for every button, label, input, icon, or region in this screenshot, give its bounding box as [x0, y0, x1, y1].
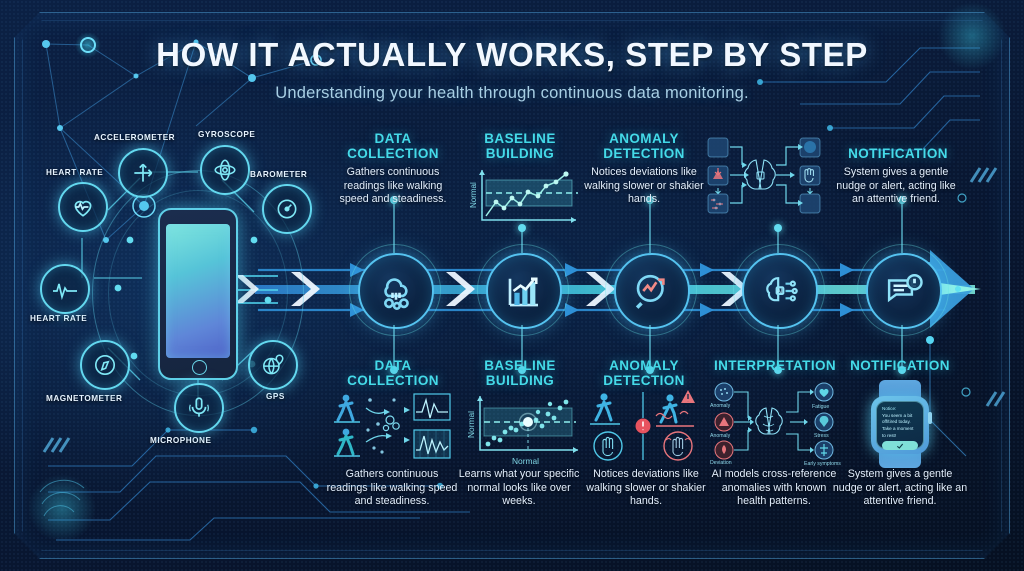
gps-globe-icon [248, 340, 298, 390]
page-title: HOW IT ACTUALLY WORKS, STEP BY STEP [0, 36, 1024, 74]
watch-confirm-button[interactable] [882, 441, 918, 450]
step-heading-top-anomaly-detection: ANOMALY DETECTION [588, 131, 700, 161]
interpretation-output-label-2: Stress [814, 433, 829, 439]
sensor-label-barometer: BAROMETER [250, 170, 307, 179]
step-heading-bottom-notification: NOTIFICATION [838, 358, 962, 373]
step-caption-baseline-building: Learns what your specific normal looks l… [456, 468, 582, 509]
svg-text:Normal: Normal [469, 182, 478, 208]
step-caption-notification: System gives a gentle nudge or alert, ac… [832, 468, 968, 509]
sensor-label-gyroscope: GYROSCOPE [198, 130, 255, 139]
ecg-wave-icon [40, 264, 90, 314]
step-icon-baseline-building[interactable] [486, 253, 562, 329]
step-heading-bottom-anomaly-detection: ANOMALY DETECTION [588, 358, 700, 388]
sensor-label-gps: GPS [266, 392, 285, 401]
sensor-label-accelerometer: ACCELEROMETER [94, 133, 175, 142]
compass-icon [80, 340, 130, 390]
step-blurb-top-data-collection: Gathers continuous readings like walking… [332, 166, 454, 207]
step-heading-top-notification: NOTIFICATION [836, 146, 960, 161]
step-heading-bottom-data-collection: DATA COLLECTION [334, 358, 452, 388]
step-caption-interpretation: AI models cross-reference anomalies with… [706, 468, 842, 509]
sensor-label-heart-rate-2: HEART RATE [30, 314, 87, 323]
step-heading-top-baseline-building: BASELINE BUILDING [464, 131, 576, 161]
step-icon-anomaly-detection[interactable] [614, 253, 690, 329]
step-caption-anomaly-detection: Notices deviations like walking slower o… [584, 468, 708, 509]
interpretation-input-label-2: Anomaly [710, 433, 731, 439]
accelerometer-icon [118, 148, 168, 198]
watch-notice-title: Notice: [882, 406, 918, 413]
step-blurb-top-notification: System gives a gentle nudge or alert, ac… [832, 166, 960, 207]
step-stem-5-top [901, 200, 903, 253]
normal-vs-abnormal-graphic [584, 386, 706, 464]
microphone-icon [174, 383, 224, 433]
watch-case: Notice: You seem a bit off/tired today. … [871, 396, 929, 454]
phone-screen [166, 224, 230, 358]
step-heading-top-data-collection: DATA COLLECTION [334, 131, 452, 161]
step-icon-notification[interactable] [866, 253, 942, 329]
interpretation-input-label-1: Anomaly [710, 403, 731, 409]
step-caption-data-collection: Gathers continuous readings like walking… [326, 468, 458, 509]
watch-screen: Notice: You seem a bit off/tired today. … [876, 401, 924, 449]
watch-crown[interactable] [928, 412, 932, 424]
step-heading-bottom-interpretation: INTERPRETATION [710, 358, 840, 373]
baseline-scatter-chart-bottom: Normal Normal [450, 388, 586, 468]
step-blurb-top-anomaly-detection: Notices deviations like walking slower o… [584, 166, 704, 207]
watch-notice-line1: You seem a bit [882, 413, 918, 420]
sensor-hub: ACCELEROMETER GYROSCOPE BAROMETER HEART … [22, 118, 332, 463]
step-icon-data-collection[interactable] [358, 253, 434, 329]
page-subtitle: Understanding your health through contin… [0, 84, 1024, 103]
check-icon [896, 442, 904, 450]
smartphone-device [158, 208, 238, 380]
sensor-label-magnetometer: MAGNETOMETER [46, 394, 122, 403]
svg-text:Normal: Normal [512, 456, 539, 466]
step-icon-interpretation[interactable]: AI [742, 253, 818, 329]
step-stem-4-top [777, 228, 779, 253]
sensor-label-heart-rate-1: HEART RATE [46, 168, 103, 177]
interpretation-diagram: Anomaly Anomaly Deviation Fatigue Stress… [708, 382, 842, 466]
step-stem-1-top [393, 200, 395, 253]
step-heading-bottom-baseline-building: BASELINE BUILDING [464, 358, 576, 388]
gyroscope-icon [200, 145, 250, 195]
baseline-line-chart-top: Normal [452, 162, 580, 230]
interpretation-input-label-3: Deviation [710, 460, 732, 466]
heart-pulse-icon [58, 182, 108, 232]
watch-notice-line4: to rest! [882, 433, 918, 440]
interpretation-output-label-3: Early symptoms [804, 461, 841, 466]
walking-to-waveform-graphic [330, 390, 454, 462]
svg-text:Normal: Normal [466, 411, 476, 438]
sensor-label-microphone: MICROPHONE [150, 436, 211, 445]
smartwatch[interactable]: Notice: You seem a bit off/tired today. … [857, 382, 943, 466]
step-stem-2-top [521, 228, 523, 253]
step-stem-3-top [649, 200, 651, 253]
barometer-icon [262, 184, 312, 234]
interpretation-output-label-1: Fatigue [812, 404, 829, 410]
watch-notice-line3: Take a moment [882, 426, 918, 433]
watch-notice-line2: off/tired today. [882, 419, 918, 426]
infographic-canvas: HOW IT ACTUALLY WORKS, STEP BY STEP Unde… [0, 0, 1024, 571]
brain-diagram-top [704, 134, 824, 218]
svg-text:AI: AI [777, 288, 783, 295]
phone-home-button [192, 360, 207, 375]
